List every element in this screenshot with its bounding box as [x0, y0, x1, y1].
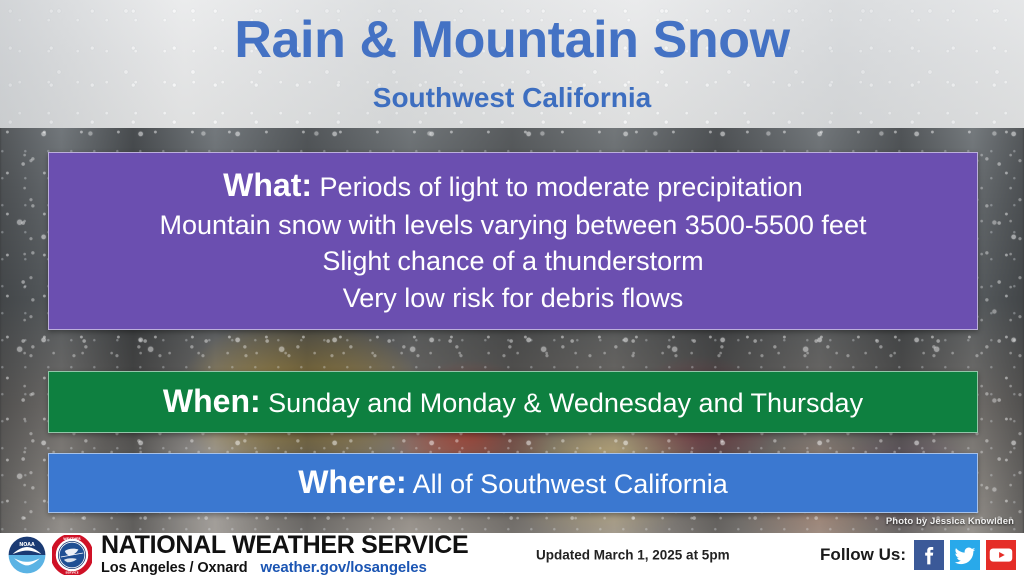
svg-text:WEATHER: WEATHER [63, 536, 81, 540]
panel-when-label: When: [163, 383, 261, 419]
panel-what-line-3: Slight chance of a thunderstorm [322, 246, 703, 276]
panel-what-text-1: Periods of light to moderate precipitati… [320, 172, 803, 202]
svg-text:NOAA: NOAA [19, 541, 35, 547]
follow-us-block: Follow Us: [820, 540, 1016, 570]
agency-text-block: NATIONAL WEATHER SERVICE Los Angeles / O… [101, 533, 468, 576]
panel-what-line-2: Mountain snow with levels varying betwee… [160, 210, 867, 240]
twitter-icon[interactable] [950, 540, 980, 570]
page-subtitle: Southwest California [0, 83, 1024, 112]
panel-when: When: Sunday and Monday & Wednesday and … [48, 371, 978, 433]
panel-where: Where: All of Southwest California [48, 453, 978, 513]
panel-what-line-1: What: Periods of light to moderate preci… [223, 168, 803, 204]
panel-what-line-4: Very low risk for debris flows [343, 283, 684, 313]
panel-when-text-1: Sunday and Monday & Wednesday and Thursd… [268, 388, 863, 418]
follow-us-label: Follow Us: [820, 545, 906, 565]
nws-seal-icon: WEATHER SERVICE [52, 535, 92, 575]
weather-graphic: Rain & Mountain Snow Southwest Californi… [0, 0, 1024, 576]
panel-where-line-1: Where: All of Southwest California [298, 465, 728, 501]
panel-where-label: Where: [298, 464, 406, 500]
panel-when-line-1: When: Sunday and Monday & Wednesday and … [163, 384, 863, 420]
panel-what: What: Periods of light to moderate preci… [48, 152, 978, 330]
panel-where-text-1: All of Southwest California [413, 469, 728, 499]
agency-logos: NOAA WEATHER SERVICE [0, 535, 92, 575]
page-title: Rain & Mountain Snow [0, 13, 1024, 68]
agency-subrow: Los Angeles / Oxnard weather.gov/losange… [101, 560, 468, 576]
updated-timestamp: Updated March 1, 2025 at 5pm [536, 547, 730, 562]
svg-text:SERVICE: SERVICE [65, 570, 78, 574]
facebook-icon[interactable] [914, 540, 944, 570]
agency-url-link[interactable]: weather.gov/losangeles [261, 560, 427, 575]
header-banner: Rain & Mountain Snow Southwest Californi… [0, 0, 1024, 128]
panel-what-label: What: [223, 167, 312, 203]
title-block: Rain & Mountain Snow Southwest Californi… [0, 0, 1024, 128]
footer-bar: NOAA WEATHER SERVICE NATIONAL WEATHER SE… [0, 533, 1024, 576]
agency-name: NATIONAL WEATHER SERVICE [101, 533, 468, 558]
photo-credit: Photo by Jessica Knowlden [886, 516, 1014, 527]
noaa-logo-icon: NOAA [6, 535, 48, 575]
youtube-icon[interactable] [986, 540, 1016, 570]
agency-office: Los Angeles / Oxnard [101, 561, 248, 576]
